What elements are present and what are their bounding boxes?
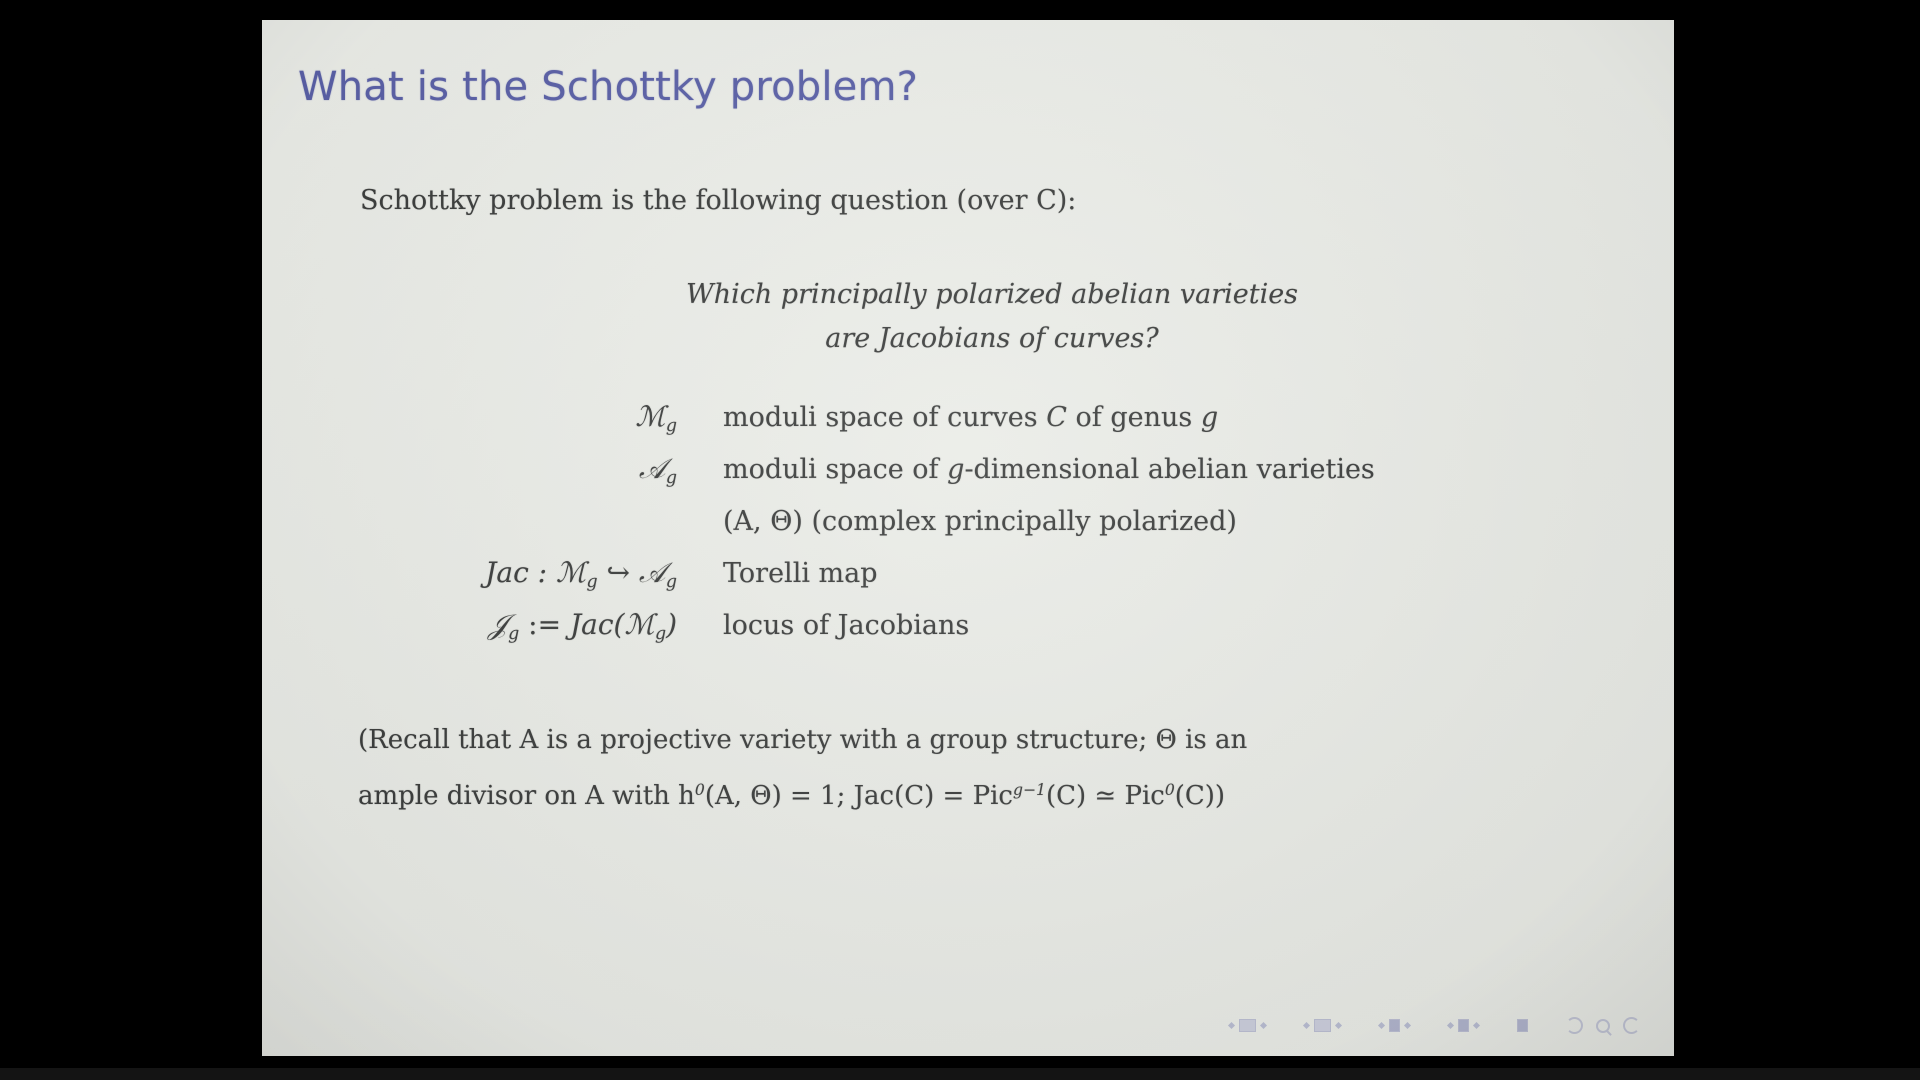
definition-continuation: (A, Θ) (complex principally polarized)	[723, 506, 1632, 537]
definition-row: ℳg moduli space of curves C of genus g	[332, 400, 1632, 452]
recall-line-2-prefix: ample divisor on A with h	[358, 781, 695, 811]
definition-description: locus of Jacobians	[723, 610, 1632, 641]
definition-description: Torelli map	[723, 558, 1632, 589]
recall-line-2: ample divisor on A with h0(A, Θ) = 1; Ja…	[358, 765, 1628, 821]
definition-symbol: Jac : ℳg ↪ 𝒜g	[332, 556, 723, 592]
definition-row-continuation: (A, Θ) (complex principally polarized)	[332, 504, 1632, 556]
pic-exponent-2: 0	[1165, 781, 1175, 799]
h-exponent: 0	[695, 781, 705, 799]
letterbox-left	[0, 0, 245, 1080]
nav-right-arrow-icon	[1260, 1022, 1267, 1029]
nav-left-arrow-icon	[1228, 1022, 1235, 1029]
pic-exponent-1: g−1	[1013, 781, 1046, 799]
definitions-table: ℳg moduli space of curves C of genus g 𝒜…	[332, 400, 1632, 660]
nav-left-arrow-icon	[1303, 1022, 1310, 1029]
recall-line-2-b: (C) ≃ Pic	[1046, 781, 1165, 811]
definition-description: moduli space of curves C of genus g	[723, 402, 1632, 433]
nav-last-slide[interactable]	[1517, 1019, 1528, 1032]
nav-frame-icon	[1239, 1019, 1256, 1032]
nav-slide-icon	[1517, 1019, 1528, 1032]
beamer-navigation-bar[interactable]	[1229, 1017, 1640, 1034]
definition-symbol: 𝒜g	[332, 452, 723, 488]
nav-slide-icon	[1458, 1019, 1469, 1032]
nav-forward-icon[interactable]	[1623, 1017, 1640, 1034]
presentation-slide: What is the Schottky problem? Schottky p…	[262, 20, 1674, 1056]
recall-paragraph: (Recall that A is a projective variety w…	[358, 715, 1628, 821]
definition-symbol: 𝒥g := Jac(ℳg)	[332, 608, 723, 644]
definition-row: Jac : ℳg ↪ 𝒜g Torelli map	[332, 556, 1632, 608]
recall-line-2-a: (A, Θ) = 1; Jac(C) = Pic	[705, 781, 1013, 811]
lead-text: Schottky problem is the following questi…	[360, 185, 1076, 216]
nav-prev-slide[interactable]	[1379, 1019, 1410, 1032]
definition-row: 𝒜g moduli space of g-dimensional abelian…	[332, 452, 1632, 504]
letterbox-bottom	[0, 1068, 1920, 1080]
page-title: What is the Schottky problem?	[298, 64, 918, 110]
nav-search-icon[interactable]	[1596, 1019, 1610, 1033]
nav-next-slide[interactable]	[1448, 1019, 1479, 1032]
nav-slide-icon	[1389, 1019, 1400, 1032]
definition-description: moduli space of g-dimensional abelian va…	[723, 454, 1632, 485]
question-line-1: Which principally polarized abelian vari…	[286, 279, 1674, 310]
nav-back-icon[interactable]	[1566, 1017, 1583, 1034]
nav-frame-icon	[1314, 1019, 1331, 1032]
nav-prev-frame[interactable]	[1304, 1019, 1341, 1032]
nav-left-arrow-icon	[1447, 1022, 1454, 1029]
nav-right-arrow-icon	[1404, 1022, 1411, 1029]
recall-line-2-end: (C))	[1175, 781, 1225, 811]
recall-line-1: (Recall that A is a projective variety w…	[358, 715, 1628, 765]
nav-first-frame[interactable]	[1229, 1019, 1266, 1032]
definition-symbol: ℳg	[332, 400, 723, 436]
nav-right-arrow-icon	[1335, 1022, 1342, 1029]
nav-left-arrow-icon	[1378, 1022, 1385, 1029]
video-frame: What is the Schottky problem? Schottky p…	[0, 0, 1920, 1080]
nav-right-arrow-icon	[1473, 1022, 1480, 1029]
definition-row: 𝒥g := Jac(ℳg) locus of Jacobians	[332, 608, 1632, 660]
question-line-2: are Jacobians of curves?	[286, 323, 1674, 354]
